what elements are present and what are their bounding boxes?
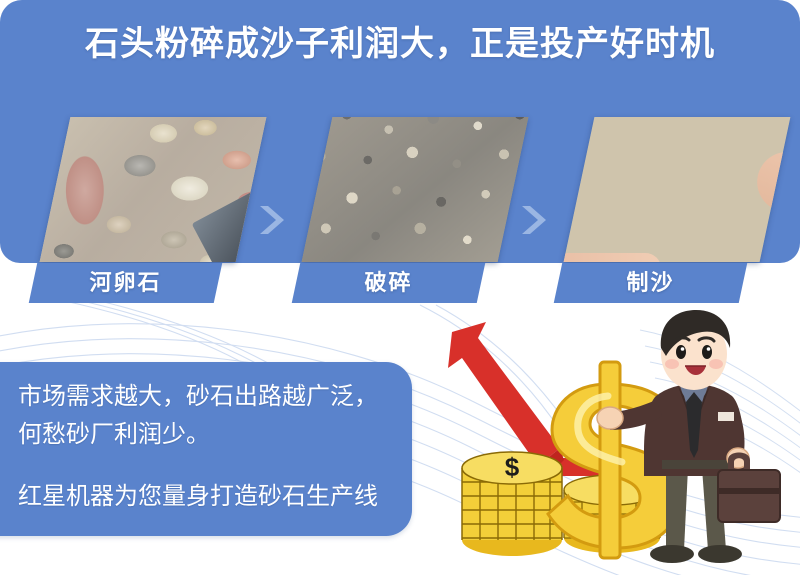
- profit-illustration: $ $: [440, 300, 800, 575]
- process-image-river-pebble: [40, 117, 267, 262]
- process-image-crushed-gravel: [302, 117, 529, 262]
- process-step-label-2: 破碎: [296, 269, 481, 299]
- sand-texture: [564, 117, 791, 262]
- crushed-gravel-texture: [302, 117, 529, 262]
- process-step-label-3: 制沙: [558, 269, 743, 299]
- river-pebble-texture: [40, 117, 267, 262]
- copy-line-3: 红星机器为您量身打造砂石生产线: [18, 478, 378, 514]
- page-title: 石头粉碎成沙子利润大，正是投产好时机: [0, 22, 800, 66]
- coin-stack-icon: $: [462, 452, 562, 556]
- copy-line-1: 市场需求越大，砂石出路越广泛，: [18, 378, 378, 414]
- svg-text:$: $: [505, 452, 520, 482]
- process-image-manufactured-sand: [564, 117, 791, 262]
- process-step-label-1: 河卵石: [33, 269, 218, 299]
- chevron-right-icon: [514, 200, 554, 240]
- copy-line-2: 何愁砂厂利润少。: [18, 416, 210, 452]
- chevron-right-icon: [252, 200, 292, 240]
- hand-shape: [564, 253, 662, 262]
- poster-canvas: 石头粉碎成沙子利润大，正是投产好时机 河卵石 破碎 制沙: [0, 0, 800, 575]
